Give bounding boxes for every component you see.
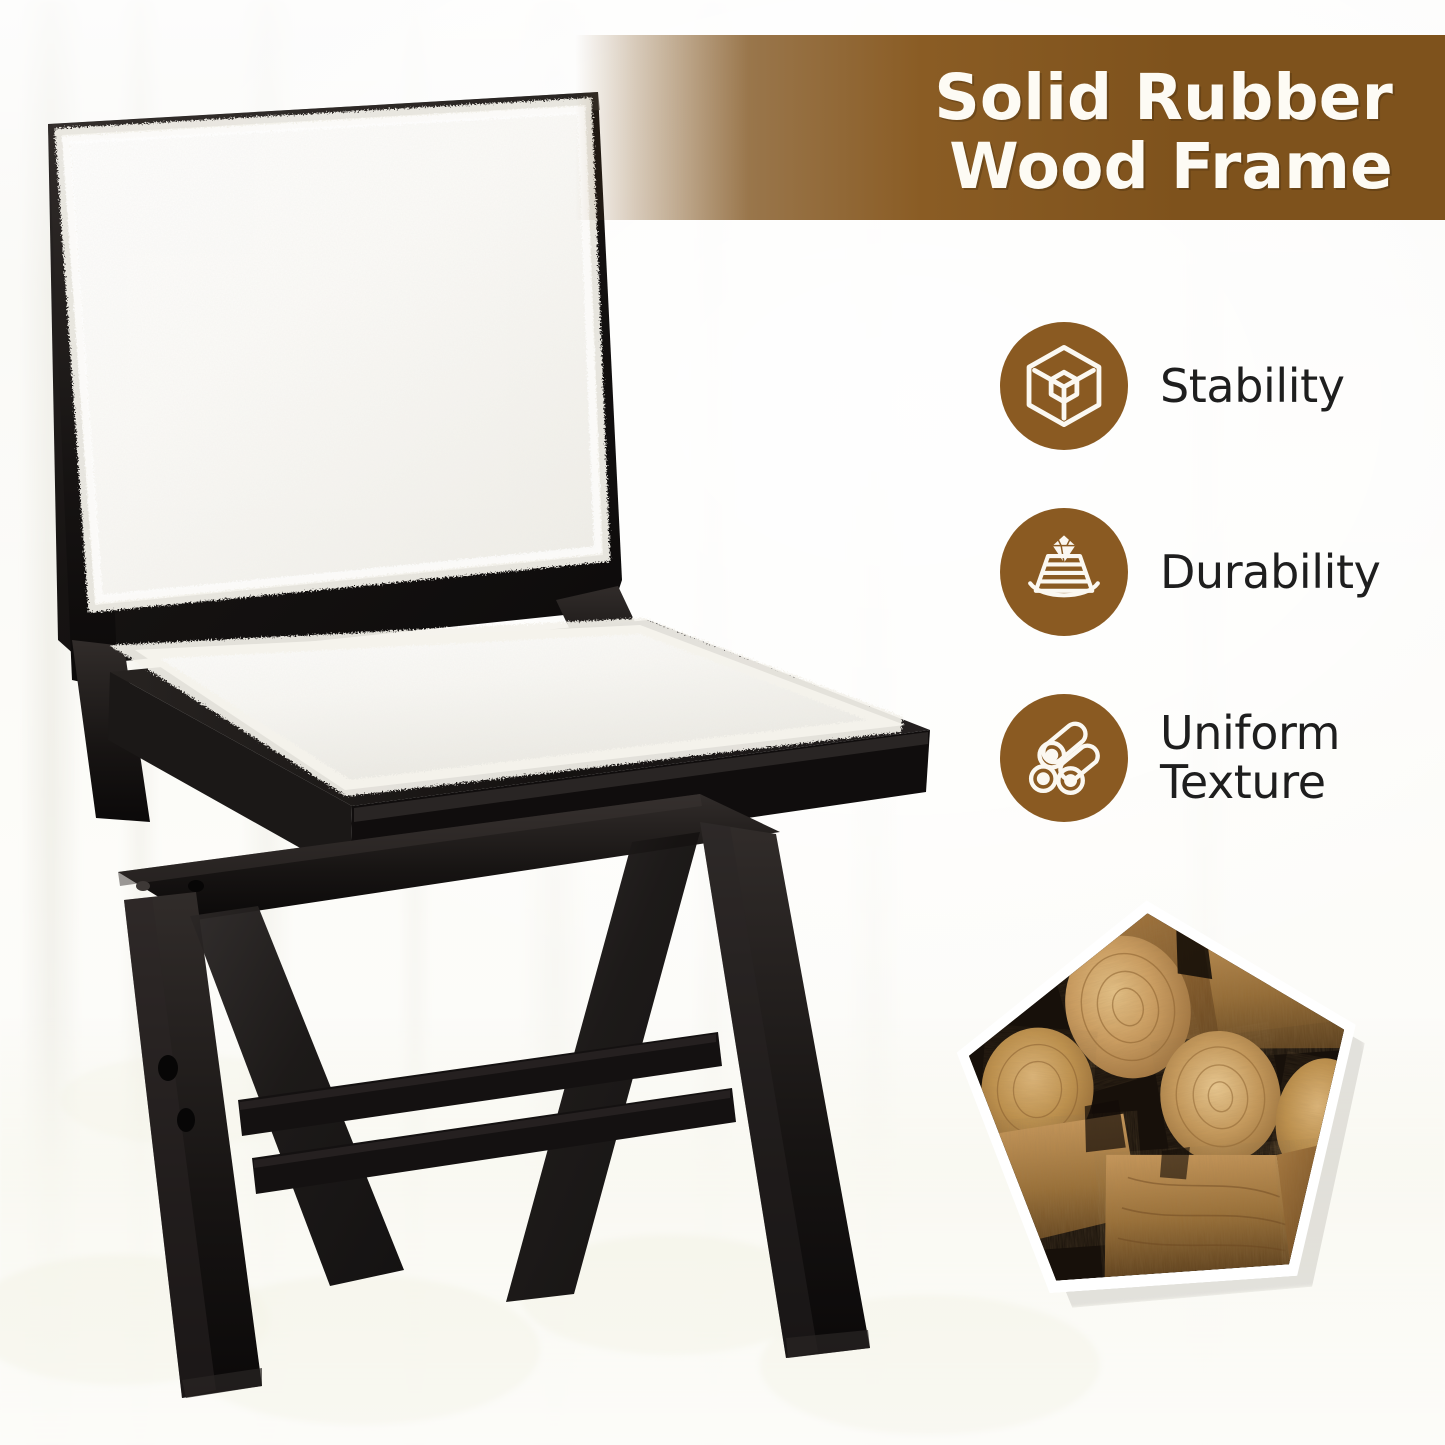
cut-logs-pentagon-photo: [960, 900, 1360, 1285]
feature-label-durability: Durability: [1160, 548, 1380, 597]
feature-item-stability: Stability: [1000, 322, 1420, 450]
feature-list: Stability: [1000, 322, 1420, 880]
stacked-logs-icon: [1000, 694, 1128, 822]
banner-title-line-1: Solid Rubber: [934, 64, 1393, 132]
banner-title-line-2: Wood Frame: [949, 133, 1393, 201]
wood-photo-block: [960, 900, 1390, 1325]
cube-icon: [1000, 322, 1128, 450]
poster-stage: Solid Rubber Wood Frame Stability: [0, 0, 1445, 1445]
header-banner: Solid Rubber Wood Frame: [575, 35, 1445, 220]
diamond-layers-icon: [1000, 508, 1128, 636]
feature-label-uniform-texture: Uniform Texture: [1160, 709, 1340, 807]
product-image-chair: [0, 80, 980, 1445]
feature-item-durability: Durability: [1000, 508, 1420, 636]
feature-label-stability: Stability: [1160, 362, 1345, 411]
feature-item-uniform-texture: Uniform Texture: [1000, 694, 1420, 822]
